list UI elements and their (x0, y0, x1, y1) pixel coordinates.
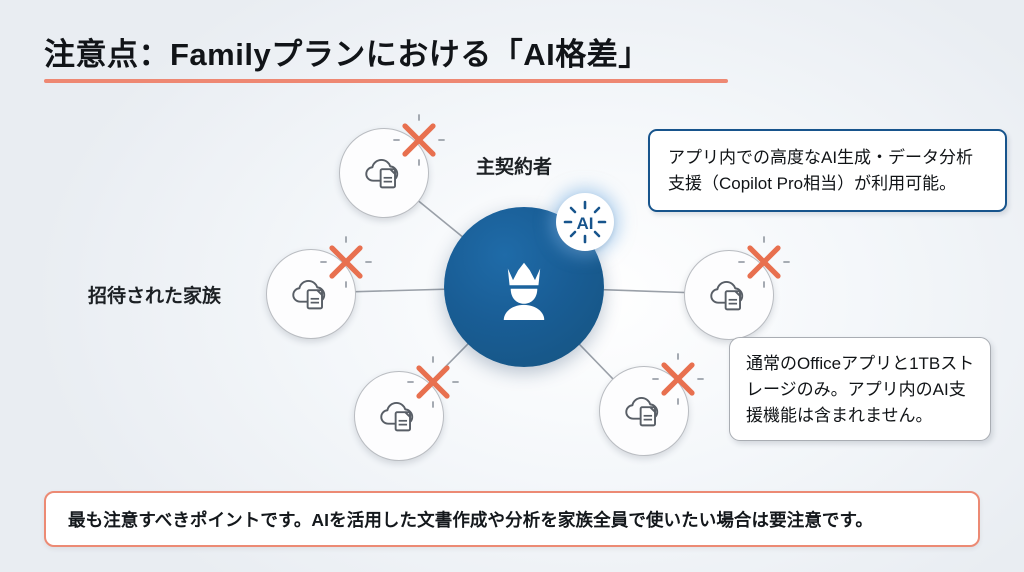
svg-text:AI: AI (577, 214, 594, 233)
member-node-bottom-left[interactable] (354, 371, 444, 461)
cloud-document-icon (706, 272, 752, 318)
callout-owner-text: アプリ内での高度なAI生成・データ分析支援（Copilot Pro相当）が利用可… (668, 145, 989, 197)
bottom-warning-text: 最も注意すべきポイントです。AIを活用した文書作成や分析を家族全員で使いたい場合… (68, 507, 873, 532)
member-node-left[interactable] (266, 249, 356, 339)
cloud-document-icon (361, 150, 407, 196)
cloud-document-icon (288, 271, 334, 317)
ai-spark-icon: AI (558, 195, 612, 249)
network-diagram: AI 主契約者 招待された家族 (0, 0, 1024, 572)
cloud-document-icon (376, 393, 422, 439)
callout-owner-benefits: アプリ内での高度なAI生成・データ分析支援（Copilot Pro相当）が利用可… (648, 129, 1007, 212)
crown-user-icon (487, 250, 561, 324)
member-node-right[interactable] (684, 250, 774, 340)
members-group-label: 招待された家族 (88, 281, 221, 308)
callout-member-text: 通常のOfficeアプリと1TBストレージのみ。アプリ内のAI支援機能は含まれま… (746, 351, 976, 428)
slide-canvas: 注意点：Familyプランにおける「AI格差」 (0, 0, 1024, 572)
callout-member-limits: 通常のOfficeアプリと1TBストレージのみ。アプリ内のAI支援機能は含まれま… (729, 337, 991, 441)
ai-badge[interactable]: AI (556, 193, 614, 251)
member-node-bottom-right[interactable] (599, 366, 689, 456)
member-node-top-left[interactable] (339, 128, 429, 218)
cloud-document-icon (621, 388, 667, 434)
bottom-warning-banner: 最も注意すべきポイントです。AIを活用した文書作成や分析を家族全員で使いたい場合… (44, 491, 980, 547)
hub-label-owner: 主契約者 (476, 152, 552, 179)
